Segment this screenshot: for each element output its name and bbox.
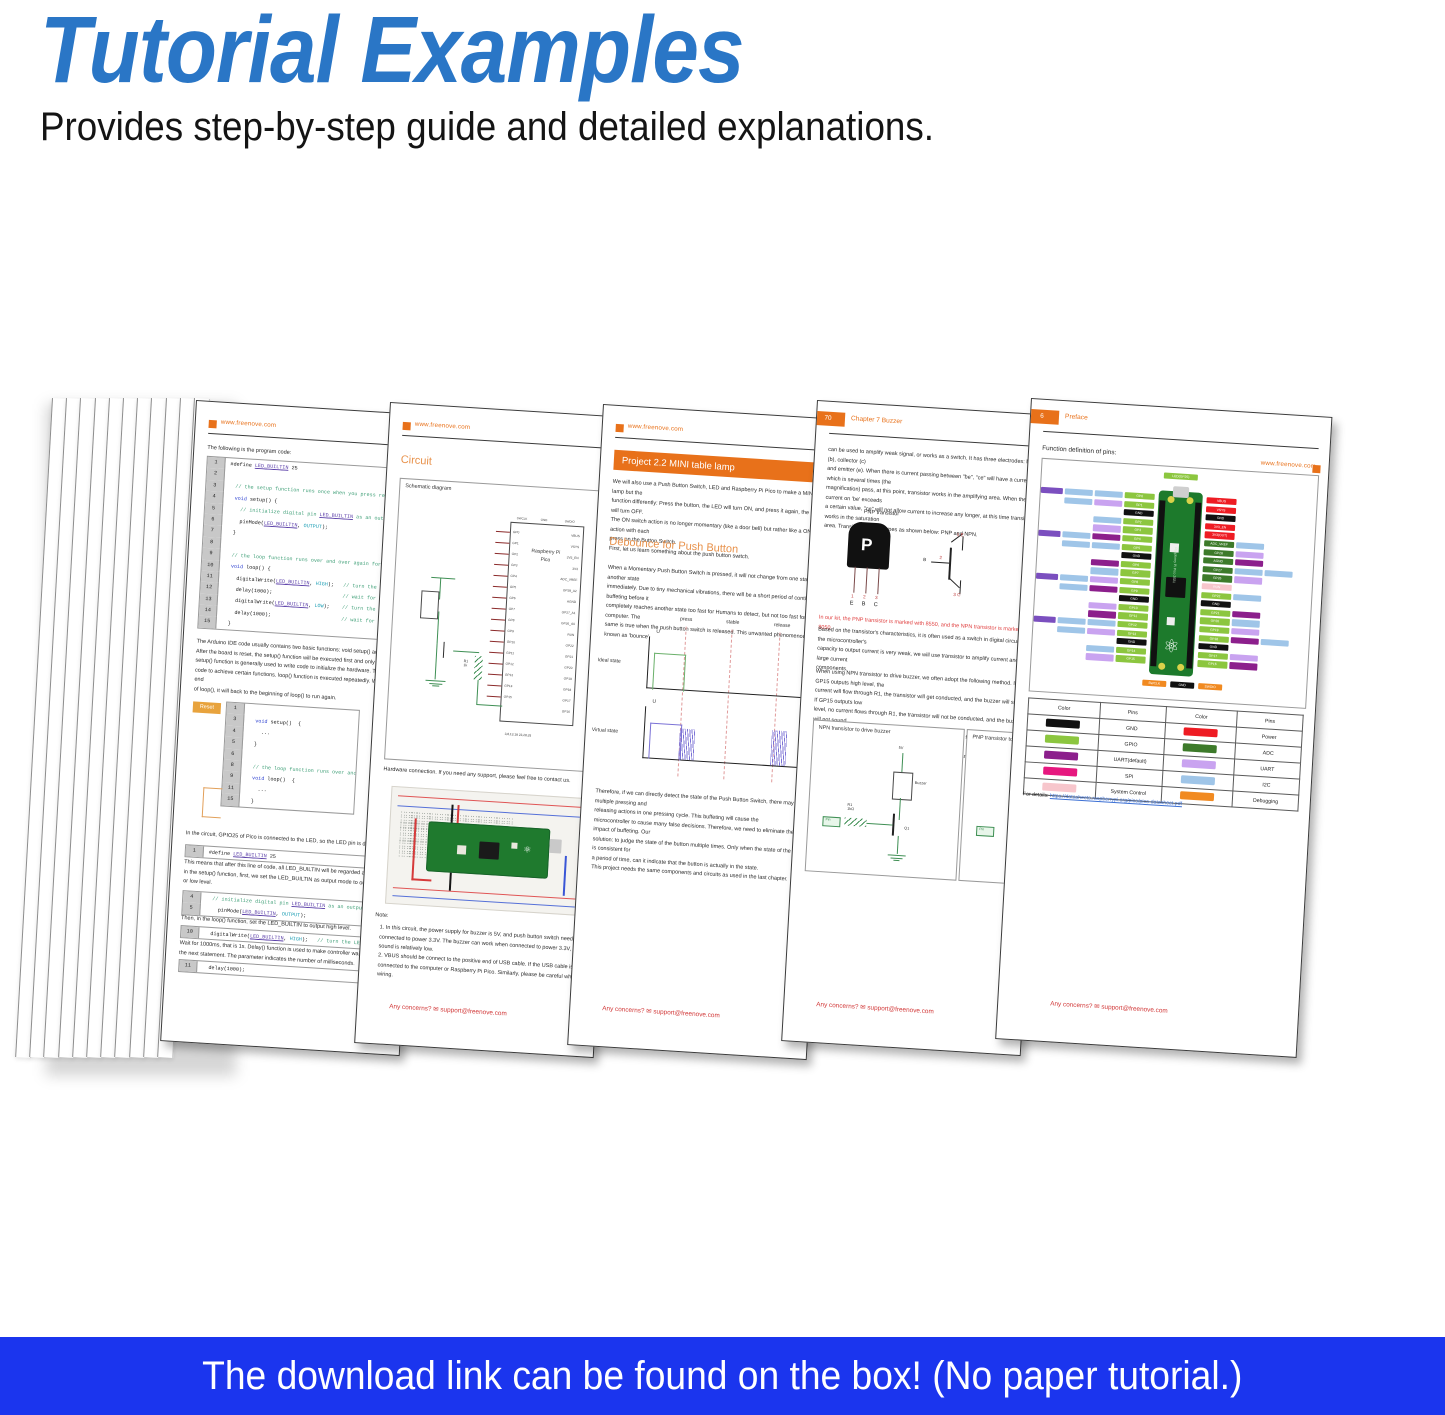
pin-label-text: GP16 [1197,660,1227,668]
freenove-logo-icon [1312,465,1320,473]
schematic-pin-left-label: GP12 [505,661,513,666]
pin-label-tag: ADC_VREF [1204,540,1234,548]
pin-function-tag [1057,617,1085,625]
pin-function-text [1087,628,1115,630]
buzzer-label: Buzzer [915,781,927,786]
details-label: For details: [1023,791,1049,799]
pin-function-tag [1088,602,1116,610]
pin-function-text [1265,570,1293,572]
marker-stable: stable [726,619,740,626]
pin-function-text [1090,585,1118,587]
pin-function-text [1236,551,1264,553]
pin-label-tag: RUN [1202,583,1232,591]
pin-label-text: GP6 [1121,561,1151,569]
row-label-ideal: Ideal state [598,657,621,664]
page-number-badge: 6 [1025,409,1060,425]
schematic-pin-top-label: SWDIO [565,519,575,524]
pin-function-text [1236,542,1264,544]
schematic-pin-left [494,564,508,566]
axis-label-ideal: U [656,629,660,635]
debug-pin-text: SWDIO [1198,683,1222,691]
tutorial-page-pinout[interactable]: 6 Preface Function definition of pins: w… [995,398,1332,1058]
pin-function-tag [1235,559,1263,567]
pin-function-tag [1065,488,1093,496]
supply-label-5v: 5V [899,746,904,750]
code-line-number: 5 [182,903,201,916]
led-tag-label: LED(GP25) [1164,472,1198,480]
pin-function-text [1231,628,1259,630]
support-footer: Any concerns? ✉ support@freenove.com [816,1000,934,1015]
pin-label-text: GP28 [1204,549,1234,557]
pin-function-text [1232,619,1260,621]
virtual-y-axis [642,706,646,758]
schematic-pin-left [493,575,507,577]
pin-label-tag: GP8 [1120,578,1150,586]
pin-label-tag: GND [1198,643,1228,651]
wire-led-resistor [453,650,479,653]
marker-press: press [680,616,693,623]
schematic-pin-left [496,531,510,533]
banner-text: The download link can be found on the bo… [202,1354,1242,1399]
pin-label-text: GP8 [1120,578,1150,586]
pin-function-tag [1261,639,1289,647]
download-link-banner: The download link can be found on the bo… [0,1337,1445,1415]
pin-label-text: GP26 [1202,574,1232,582]
pin-label-tag: GND [1205,514,1235,522]
schematic-pin-left [487,685,501,687]
pin-label-text: GP1 [1124,501,1154,509]
schematic-pin-left-label: GP4 [510,573,517,577]
pin-function-text [1089,602,1117,604]
raspberry-logo-icon: ⚛ [523,845,532,854]
schematic-pin-top-label: SWCLK [517,516,528,521]
chapter-label: Chapter 7 Buzzer [851,415,903,425]
pin-label-text: GP14 [1116,647,1146,655]
schematic-pin-left [489,663,503,665]
virtual-bounce-release [770,730,788,766]
schematic-pin-left-label: GP8 [508,617,515,621]
pin-function-text [1065,497,1093,499]
schematic-pin-left [487,696,501,698]
pin-label-text: 3V3(OUT) [1204,532,1234,540]
pin-function-text [1041,487,1063,488]
symbol-collector-lead [949,578,960,588]
pin-label-tag: GND [1121,552,1151,560]
pin-function-text [1060,574,1088,576]
led-symbol [443,642,454,659]
wire-base [866,823,892,826]
pin-function-tag [1264,570,1292,578]
pin-function-text [1091,559,1119,561]
pin-label-text: GP4 [1122,535,1152,543]
pin-label-tag: GP21 [1200,609,1230,617]
usb-connector [549,839,562,854]
pin-function-text [1086,645,1114,647]
pin-label-tag: GP19 [1199,626,1229,634]
pico-usb-port [1173,486,1190,498]
pin-function-tag [1093,516,1121,524]
pin-function-text [1093,525,1121,527]
pin-function-tag [1093,525,1121,533]
leg-number-1: 1 [851,594,854,599]
resistor-r1 [844,818,866,827]
code-block-flow: 13 void setup() {4 ...5 }68 // the loop … [220,701,360,814]
pin-label-tag: GP26 [1202,574,1232,582]
pin-function-text [1095,490,1123,492]
chapter-label: Preface [1065,413,1088,421]
pin-function-tag [1038,530,1060,538]
symbol-emitter-rail [962,536,964,550]
mount-hole-bl [1158,663,1165,670]
reset-badge: Reset [193,701,222,714]
pin-label-tag: GP5 [1122,544,1152,552]
pin-function-tag [1090,567,1118,575]
support-footer: Any concerns? ✉ support@freenove.com [1050,999,1168,1014]
pin-function-text [1094,499,1122,501]
symbol-base-letter: B [923,557,926,562]
pin-label-tag: GND [1119,595,1149,603]
mount-hole-tl [1167,496,1174,503]
pin-label-tag: GP27 [1203,566,1233,574]
wire-gnd-stem [435,643,438,679]
leg-number-2: 2 [863,594,866,599]
transistor-package-marking: P [861,536,873,554]
pin-function-text [1232,611,1260,613]
schematic-frame: Schematic diagram Raspberry Pi Pico GP0G… [384,478,615,773]
symbol-base-bar [948,548,951,580]
pin-node-label: Pin [825,817,830,821]
debug-pin-tag: SWDIO [1198,683,1222,691]
ideal-y-axis [646,636,650,688]
switch-symbol [420,590,440,619]
pin-label-text: AGND [1203,557,1233,565]
pin-function-tag [1090,576,1118,584]
schematic-pin-left-label: GP15 [504,694,512,699]
pin-function-text [1060,583,1088,585]
pin-label-tag: 3V3(OUT) [1204,532,1234,540]
pin-function-text [1261,639,1289,641]
pin-label-text: GP2 [1123,518,1153,526]
schematic-pin-left-label: GP3 [511,562,518,566]
pin-function-text [1057,626,1085,628]
resistor-label: R11k [463,659,468,667]
leg-letter-e: E [850,600,854,606]
raspberry-logo-icon: ⚛ [1163,637,1180,656]
pin-function-text [1062,540,1090,542]
pin-label-text: GP9 [1119,587,1149,595]
legend-label-b: Debugging [1232,791,1298,811]
color-swatch [1181,775,1215,785]
transistor-q1-label: Q1 [904,826,909,830]
schematic-pin-left [491,619,505,621]
symbol-base-lead [931,561,949,563]
pico-bootsel [1167,617,1175,625]
freenove-logo-icon [402,422,410,430]
virtual-waveform-high [648,723,682,761]
project-title-banner: Project 2.2 MINI table lamp [613,450,836,484]
code-line-number: 1 [185,845,204,858]
pin-label-tag: GP13 [1117,629,1147,637]
pin-function-text [1233,594,1261,596]
transistor-leg-1 [853,567,856,593]
schematic-pin-left-label: GP1 [512,540,519,544]
schematic-pin-left-label: GP7 [509,606,516,610]
color-swatch [1043,766,1077,776]
pin-function-tag [1231,637,1259,645]
npn-buzzer-circuit-frame: NPN transistor to drive buzzer 5V Buzzer… [805,719,965,880]
ideal-waveform [652,653,686,692]
pin-function-tag [1232,619,1260,627]
color-swatch [1045,734,1079,744]
tutorial-pages-illustration: www.freenove.com The following is the pr… [0,0,1445,1415]
pin-label-tag: GP11 [1118,612,1148,620]
color-swatch [1182,759,1216,769]
pin-label-tag: GP17 [1198,652,1228,660]
pin-function-text [1235,559,1263,561]
page-number-badge: 70 [811,411,846,427]
pin-label-tag: GP3 [1123,526,1153,534]
ground-symbol [425,679,445,687]
npn-circuit-title: NPN transistor to drive buzzer [819,725,891,736]
debug-pin-text: SWCLK [1142,680,1166,688]
pico-flash-chip [457,845,466,855]
pin-function-tag [1229,662,1257,670]
dash-stable [723,630,732,780]
pin-label-text: RUN [1202,583,1232,591]
pin-function-text [1230,662,1258,664]
pin-label-text: GP17 [1198,652,1228,660]
color-swatch [1183,727,1217,737]
pin-function-text [1230,654,1258,656]
pin-function-text [1086,653,1114,655]
site-url: www.freenove.com [221,419,277,429]
pin-function-tag [1088,610,1116,618]
schematic-pin-left-label: GP2 [512,551,519,555]
pin-function-text [1088,610,1116,612]
leg-letter-b: B [862,601,866,607]
pico-board-illustration: ⚛ Raspberry Pi Pico 2021 [1149,490,1203,676]
transistor-package-photo: P [847,521,891,570]
schematic-pin-left [495,553,509,555]
schematic-pin-left [490,641,504,643]
pinout-diagram-frame: LED(GP25) GP0GP1GNDGP2GP3GP4GP5GNDGP6GP7… [1029,458,1320,709]
pin-function-tag [1057,626,1085,634]
pin-label-tag: GP7 [1120,569,1150,577]
pin-label-tag: GP9 [1119,587,1149,595]
pin-function-tag [1234,577,1262,585]
wire-buzzer-collector [899,798,901,820]
code-line-number: 15 [221,794,240,807]
pin-label-tag: GP10 [1118,604,1148,612]
pin-label-text: GP0 [1125,492,1155,500]
pin-function-text [1235,568,1263,570]
pin-node-label-pnp: Pin [979,827,984,831]
pin-label-text: ADC_VREF [1204,540,1234,548]
jumper-wire-black-bottom [449,873,452,891]
loop-arrow [202,787,223,818]
schematic-pin-left [488,674,502,676]
buzzer-symbol [892,772,914,801]
schematic-pin-left-label: GP11 [506,650,514,654]
symbol-pin-2: 2 [939,555,942,560]
pin-label-tag: GP28 [1204,549,1234,557]
schematic-pin-left-label: GP9 [507,628,514,632]
pin-label-text: GND [1116,638,1146,646]
ground-symbol-npn [887,853,905,861]
wire-5v [901,753,903,773]
pin-label-tag: GP0 [1125,492,1155,500]
pin-label-text: GP10 [1118,604,1148,612]
pin-label-tag: GP2 [1123,518,1153,526]
pin-function-tag [1232,611,1260,619]
color-swatch [1042,782,1076,792]
pin-label-text: GP18 [1199,635,1229,643]
pin-label-text: VBUS [1206,497,1236,505]
schematic-pin-left [490,630,504,632]
pin-function-tag [1060,574,1088,582]
color-swatch [1180,791,1214,801]
pin-label-text: GND [1198,643,1228,651]
pin-label-text: GP21 [1200,609,1230,617]
pin-function-text [1091,567,1119,569]
mount-hole-tr [1186,497,1193,504]
symbol-pin-3: 3 C [953,592,960,597]
schematic-pin-left-label: GP0 [513,529,520,533]
code-line-number: 15 [198,616,217,629]
pin-function-tag [1036,573,1058,581]
pin-label-text: GND [1201,600,1231,608]
pin-function-tag [1087,619,1115,627]
transistor-leg-3 [877,568,880,594]
pin-function-text [1234,577,1262,579]
site-url: www.freenove.com [415,421,471,431]
debug-pin-tag: SWCLK [1142,680,1166,688]
pin-function-text [1093,533,1121,535]
row-label-virtual: Virtual state [592,727,619,735]
breadboard-photo: ⚛ [385,786,591,916]
mount-hole-br [1177,664,1184,671]
pin-function-text [1034,616,1056,617]
pin-label-tag: VBUS [1206,497,1236,505]
pin-label-tag: GP20 [1200,617,1230,625]
wire-switch-top [439,577,441,599]
schematic-pin-left [492,597,506,599]
debug-pin-tag: GND [1170,681,1194,689]
site-url: www.freenove.com [628,423,684,433]
pin-function-tag [1231,628,1259,636]
pico-mcu-chip [479,841,500,859]
pin-label-tag: GP18 [1199,635,1229,643]
freenove-logo-icon [208,420,216,428]
pin-label-tag: AGND [1203,557,1233,565]
pin-label-tag: GP16 [1197,660,1227,668]
pin-function-text [1058,617,1086,619]
pin-function-text [1088,619,1116,621]
debounce-waveform-diagram: press stable release U Ideal state U [613,613,818,785]
pin-function-text [1063,531,1091,533]
code-line-number: 10 [181,926,200,939]
pin-function-tag [1062,531,1090,539]
schematic-pin-left [492,608,506,610]
freenove-logo-icon [615,424,623,432]
site-url: www.freenove.com [1261,460,1317,470]
pin-function-tag [1034,616,1056,624]
pin-label-text: 3V3_EN [1205,523,1235,531]
pin-label-tag: GND [1201,600,1231,608]
support-footer: Any concerns? ✉ support@freenove.com [389,1002,507,1017]
pin-function-tag [1089,585,1117,593]
pin-label-text: GND [1119,595,1149,603]
pin-label-tag: GP22 [1201,592,1231,600]
color-swatch [1183,743,1217,753]
pin-label-tag: GP4 [1122,535,1152,543]
pin-function-tag [1041,487,1063,495]
jumper-wire-red-left-bottom [411,878,431,881]
resistor-symbol [474,656,483,680]
wire-top-node [431,577,455,580]
symbol-pin-1: 1 E [957,532,964,537]
wire-to-chip [476,704,502,707]
wire-resistor-bottom [476,680,478,704]
pico-board-photo: ⚛ [426,821,551,879]
schematic-pin-left-label: GP10 [507,639,515,644]
pin-label-text: GP5 [1122,544,1152,552]
pin-label-tag: GND [1116,638,1146,646]
gnd-pin-note: 3,8,13,18 23,28,33 [505,732,532,738]
pin-label-tag: VSYS [1206,506,1236,514]
color-swatch [1046,718,1080,728]
pin-label-tag: GP6 [1121,561,1151,569]
pin-function-text [1094,516,1122,518]
led-gp25-tag: LED(GP25) [1164,472,1198,480]
pin-function-tag [1062,540,1090,548]
section-title: Function definition of pins: [1042,444,1117,458]
pin-label-tag: GP14 [1116,647,1146,655]
pin-function-tag [1235,551,1263,559]
debug-pin-text: GND [1170,681,1194,689]
section-heading-circuit: Circuit [400,454,432,468]
pin-label-text: VSYS [1206,506,1236,514]
pin-label-tag: GP15 [1115,655,1145,663]
pin-label-tag: GP12 [1117,621,1147,629]
virtual-bounce-press [678,728,696,760]
pin-function-text [1036,573,1058,574]
pin-function-tag [1059,583,1087,591]
pin-function-tag [1236,542,1264,550]
pin-function-tag [1092,533,1120,541]
schematic-pin-left-label: GP6 [509,595,516,599]
schematic-pin-top-label: GND [541,518,548,522]
pin-function-tag [1064,497,1092,505]
pico-crystal [511,842,517,848]
pin-function-tag [1095,490,1123,498]
pin-label-text: GP27 [1203,566,1233,574]
debounce-conclusion: Therefore, if we can directly detect the… [591,787,811,886]
pin-label-text: GP13 [1117,629,1147,637]
axis-label-virtual: U [652,699,656,705]
transistor-leg-2 [865,567,868,593]
pin-function-text [1092,542,1120,544]
pin-label-text: GND [1205,514,1235,522]
pin-label-text: GP12 [1117,621,1147,629]
pin-label-text: GND [1121,552,1151,560]
pin-label-tag: GND [1124,509,1154,517]
pin-function-text [1090,576,1118,578]
resistor-r1-label: R11kΩ [847,803,854,811]
schematic-pin-left-label: GP13 [505,672,513,677]
leg-number-3: 3 [875,595,878,600]
color-swatch [1044,750,1078,760]
